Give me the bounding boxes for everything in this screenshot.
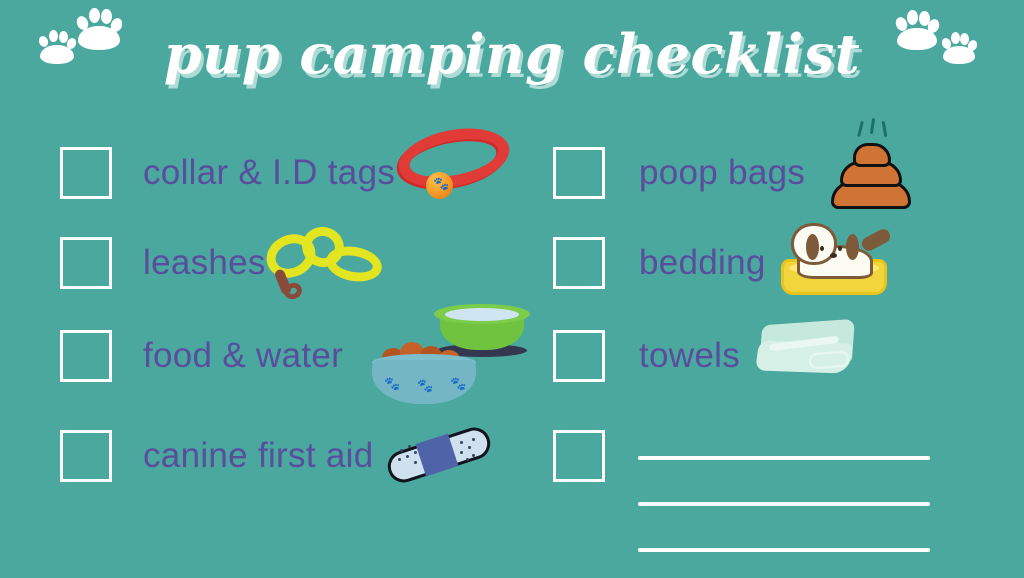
checklist-label: leashes [143,235,266,291]
checklist-item-poop-bags[interactable]: poop bags [553,145,973,201]
bandage-icon [384,425,494,487]
paw-icon [943,32,975,64]
checklist-label: canine first aid [143,428,373,484]
checkbox-food-water[interactable] [60,330,112,382]
checklist-label: bedding [639,235,766,291]
checklist-item-collar[interactable]: collar & I.D tags 🐾 [60,145,530,201]
dog-bowls-icon: 🐾 🐾 🐾 [372,304,530,404]
paw-icon [78,8,120,50]
checkbox-towels[interactable] [553,330,605,382]
paw-icon [897,10,937,50]
write-in-line[interactable] [638,502,930,506]
write-in-line[interactable] [638,548,930,552]
page-title: pup camping checklist [164,27,860,81]
towel-icon [757,316,857,384]
checklist-poster: pup camping checklist [0,0,1024,578]
leash-icon [264,225,382,299]
checkbox-bedding[interactable] [553,237,605,289]
poop-icon [829,119,915,209]
checklist-label: collar & I.D tags [143,145,395,201]
paw-prints-left [36,0,146,80]
page-title-row: pup camping checklist [0,14,1024,94]
checkbox-blank[interactable] [553,430,605,482]
dog-collar-icon: 🐾 [396,128,514,206]
dog-bed-icon [775,221,893,295]
checklist-label: poop bags [639,145,805,201]
checklist-item-leashes[interactable]: leashes [60,235,530,291]
checklist-item-food-water[interactable]: food & water 🐾 🐾 🐾 [60,328,530,384]
checkbox-first-aid[interactable] [60,430,112,482]
checklist-item-towels[interactable]: towels [553,328,973,384]
paw-icon [40,30,74,64]
checkbox-poop-bags[interactable] [553,147,605,199]
checklist-label: food & water [143,328,343,384]
checkbox-leashes[interactable] [60,237,112,289]
write-in-line[interactable] [638,456,930,460]
checklist-label: towels [639,328,740,384]
checklist-item-bedding[interactable]: bedding [553,235,973,291]
checkbox-collar[interactable] [60,147,112,199]
paw-prints-right [895,0,1005,80]
checklist-item-first-aid[interactable]: canine first aid [60,428,530,484]
food-bowl-icon: 🐾 🐾 🐾 [372,342,476,404]
